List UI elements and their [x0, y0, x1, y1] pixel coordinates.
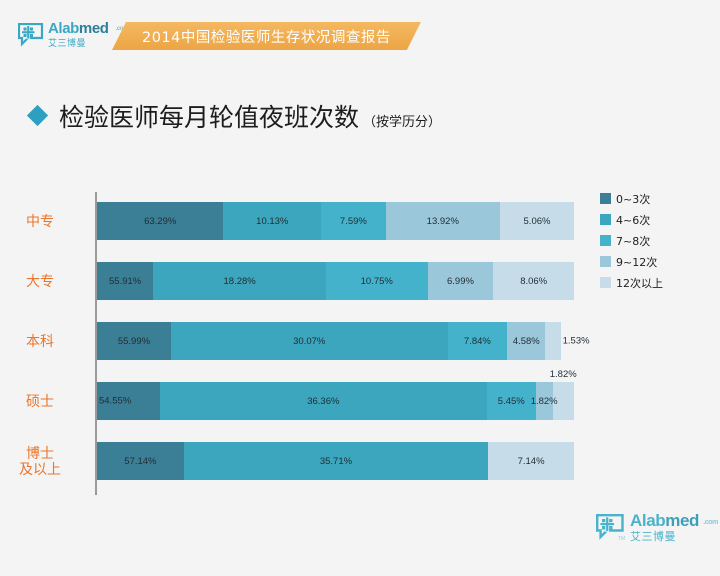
- legend-item[interactable]: 9~12次: [600, 251, 710, 272]
- chart-segment-value-label: 18.28%: [224, 276, 256, 287]
- chart-bar-segment[interactable]: 1.82%: [536, 382, 553, 420]
- chart-segment-value-label: 7.14%: [518, 456, 545, 467]
- legend-item-label: 7~8次: [616, 233, 650, 249]
- diamond-bullet-icon: [27, 105, 48, 126]
- brand-logo-footer: TM Alabmed .com 艾三博曼: [596, 512, 708, 548]
- chart-bar-segment[interactable]: 6.99%: [428, 262, 494, 300]
- chart-bar-segment[interactable]: 7.59%: [321, 202, 385, 240]
- chart-segment-value-label: 55.99%: [118, 336, 150, 347]
- chart-bar-segment[interactable]: 10.13%: [223, 202, 321, 240]
- chart-segment-value-label: 10.13%: [256, 216, 288, 227]
- chart-category-label-line1: 硕士: [26, 394, 54, 410]
- chart-category-label-line1: 中专: [26, 214, 54, 230]
- slide-header: Alabmed .com 艾三博曼 2014中国检验医师生存状况调查报告: [0, 0, 720, 68]
- legend-swatch-icon: [600, 256, 611, 267]
- alabmed-screen-plus-icon: TM: [596, 514, 626, 540]
- chart-bar-row: 大专55.91%18.28%10.75%6.99%8.06%: [97, 252, 574, 312]
- legend-swatch-icon: [600, 193, 611, 204]
- brand-logo-header: Alabmed .com 艾三博曼: [18, 22, 114, 52]
- chart-segment-value-label: 54.55%: [99, 396, 131, 407]
- chart-segment-value-label: 57.14%: [124, 456, 156, 467]
- legend-swatch-icon: [600, 214, 611, 225]
- alabmed-screen-plus-icon: [18, 23, 45, 47]
- chart-segment-value-label: 63.29%: [144, 216, 176, 227]
- chart-bar-row: 硕士54.55%36.36%5.45%1.82%1.82%: [97, 372, 574, 432]
- page-title-text: 检验医师每月轮值夜班次数: [59, 98, 359, 134]
- brand-dotcom-footer: .com: [703, 514, 718, 531]
- brand-name-light: Alab: [48, 20, 79, 37]
- brand-name-light: Alab: [630, 511, 665, 530]
- chart-segment-value-label: 7.59%: [340, 216, 367, 227]
- chart-bar-segment[interactable]: 7.14%: [488, 442, 574, 480]
- chart-category-label: 博士及以上: [0, 446, 85, 478]
- page-title: 检验医师每月轮值夜班次数 （按学历分）: [30, 98, 441, 134]
- brand-name-header: Alabmed .com: [48, 21, 118, 36]
- chart-bar-segment[interactable]: 54.55%: [97, 382, 160, 420]
- chart-bar-segment[interactable]: 5.45%: [487, 382, 536, 420]
- chart-bar-segment[interactable]: 13.92%: [386, 202, 500, 240]
- report-banner-text: 2014中国检验医师生存状况调查报告: [142, 26, 391, 47]
- legend-item[interactable]: 4~6次: [600, 209, 710, 230]
- legend-item[interactable]: 0~3次: [600, 188, 710, 209]
- chart-category-label: 本科: [0, 334, 85, 350]
- chart-segment-value-label: 35.71%: [320, 456, 352, 467]
- chart-segment-value-label: 1.82%: [531, 396, 558, 407]
- chart-segment-value-label: 30.07%: [293, 336, 325, 347]
- brand-wordmark-footer: Alabmed .com 艾三博曼: [630, 512, 699, 544]
- brand-wordmark-header: Alabmed .com 艾三博曼: [48, 21, 118, 51]
- chart-segment-value-label: 36.36%: [307, 396, 339, 407]
- legend-item-label: 12次以上: [616, 275, 663, 291]
- chart-bar-segment[interactable]: 57.14%: [97, 442, 184, 480]
- chart-bar-segment[interactable]: 1.53%: [545, 322, 560, 360]
- brand-name-dark: med: [79, 20, 109, 37]
- chart-bar-segment[interactable]: 8.06%: [493, 262, 574, 300]
- chart-bar-track: 55.91%18.28%10.75%6.99%8.06%: [97, 262, 574, 300]
- chart-segment-value-label: 1.82%: [550, 369, 577, 380]
- chart-category-label-line1: 本科: [26, 334, 54, 350]
- chart-bar-segment[interactable]: 5.06%: [500, 202, 574, 240]
- chart-segment-value-label: 5.45%: [498, 396, 525, 407]
- chart-bar-row: 博士及以上57.14%35.71%7.14%: [97, 432, 574, 492]
- chart-bar-segment[interactable]: 30.07%: [171, 322, 448, 360]
- legend-item[interactable]: 7~8次: [600, 230, 710, 251]
- report-banner: 2014中国检验医师生存状况调查报告: [112, 22, 421, 50]
- chart-bar-row: 中专63.29%10.13%7.59%13.92%5.06%: [97, 192, 574, 252]
- chart-segment-value-label: 6.99%: [447, 276, 474, 287]
- chart-category-label: 硕士: [0, 394, 85, 410]
- chart-segment-value-label: 13.92%: [427, 216, 459, 227]
- chart-segment-value-label: 10.75%: [361, 276, 393, 287]
- brand-name-dark: med: [665, 511, 699, 530]
- chart-bar-segment[interactable]: 10.75%: [326, 262, 428, 300]
- chart-category-label: 中专: [0, 214, 85, 230]
- chart-bar-segment[interactable]: 55.99%: [97, 322, 171, 360]
- chart-legend: 0~3次4~6次7~8次9~12次12次以上: [600, 188, 710, 293]
- chart-segment-value-label: 4.58%: [513, 336, 540, 347]
- chart-segment-value-label: 8.06%: [520, 276, 547, 287]
- legend-item[interactable]: 12次以上: [600, 272, 710, 293]
- chart-category-label-line1: 博士: [26, 446, 54, 462]
- chart-segment-value-label: 1.53%: [563, 336, 590, 347]
- chart-bar-segment[interactable]: 4.58%: [507, 322, 545, 360]
- chart-bar-segment[interactable]: 18.28%: [153, 262, 326, 300]
- chart-bar-segment[interactable]: 63.29%: [97, 202, 223, 240]
- chart-plot-area: 中专63.29%10.13%7.59%13.92%5.06%大专55.91%18…: [97, 192, 574, 495]
- legend-swatch-icon: [600, 277, 611, 288]
- legend-item-label: 0~3次: [616, 191, 650, 207]
- chart-bar-segment[interactable]: 36.36%: [160, 382, 487, 420]
- brand-name-footer: Alabmed .com: [630, 512, 699, 529]
- brand-chinese-footer: 艾三博曼: [630, 531, 699, 544]
- chart-bar-row: 本科55.99%30.07%7.84%4.58%1.53%: [97, 312, 574, 372]
- chart-segment-value-label: 55.91%: [109, 276, 141, 287]
- chart-bar-segment[interactable]: 55.91%: [97, 262, 153, 300]
- chart-bar-track: 63.29%10.13%7.59%13.92%5.06%: [97, 202, 574, 240]
- page-subtitle-text: （按学历分）: [363, 111, 441, 130]
- legend-swatch-icon: [600, 235, 611, 246]
- legend-item-label: 4~6次: [616, 212, 650, 228]
- chart-category-label-line1: 大专: [26, 274, 54, 290]
- chart-bar-segment[interactable]: 7.84%: [448, 322, 508, 360]
- chart-segment-value-label: 5.06%: [524, 216, 551, 227]
- chart-bar-track: 54.55%36.36%5.45%1.82%1.82%: [97, 382, 574, 420]
- legend-item-label: 9~12次: [616, 254, 657, 270]
- chart-category-label: 大专: [0, 274, 85, 290]
- chart-bar-segment[interactable]: 35.71%: [184, 442, 488, 480]
- brand-chinese-header: 艾三博曼: [48, 38, 118, 49]
- chart-segment-value-label: 7.84%: [464, 336, 491, 347]
- trademark-mark-footer: TM: [618, 536, 625, 542]
- chart-bar-track: 57.14%35.71%7.14%: [97, 442, 574, 480]
- chart-bar-track: 55.99%30.07%7.84%4.58%1.53%: [97, 322, 574, 360]
- chart-category-label-line2: 及以上: [0, 462, 85, 478]
